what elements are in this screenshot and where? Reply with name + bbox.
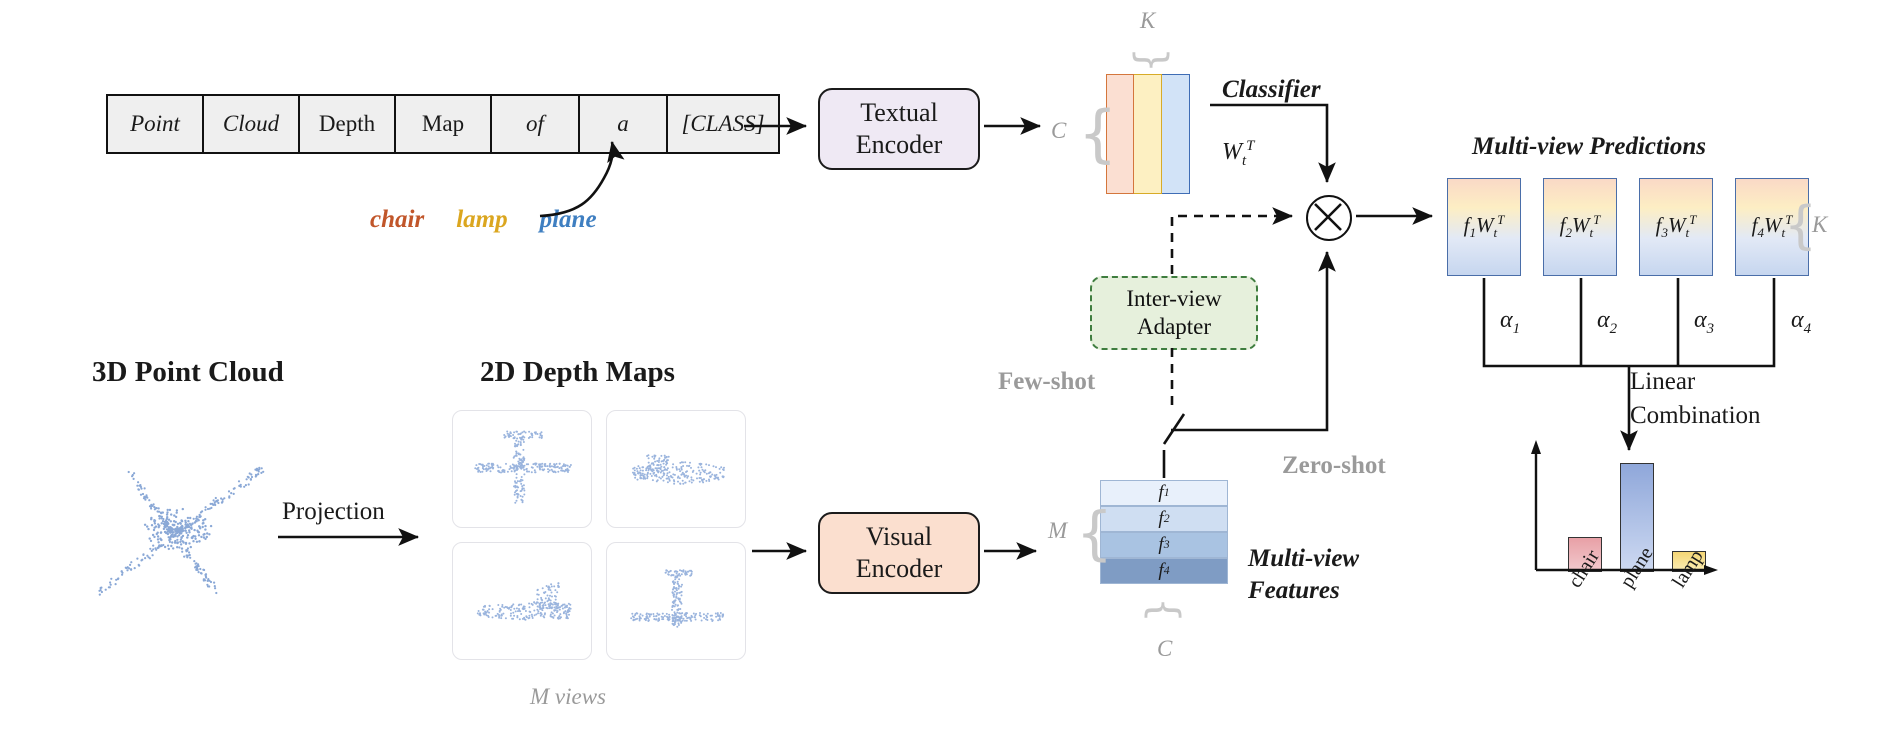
prediction-bar-chart: chair plane lamp xyxy=(1540,452,1710,572)
adapter-line2: Adapter xyxy=(1092,313,1256,341)
features-dim-m: M xyxy=(1048,518,1067,544)
visual-encoder-line1: Visual xyxy=(820,521,978,553)
matrix-multiply-icon xyxy=(1306,195,1352,241)
point-cloud-visual xyxy=(70,430,290,620)
class-word-plane[interactable]: plane xyxy=(540,206,597,234)
brace-m-features: { xyxy=(1076,478,1113,588)
features-caption-line2: Features xyxy=(1248,577,1340,605)
textual-encoder-box[interactable]: Textual Encoder xyxy=(818,88,980,170)
alpha-merge-tree xyxy=(1484,278,1774,366)
prompt-token-point[interactable]: Point xyxy=(108,96,204,152)
prompt-token-of[interactable]: of xyxy=(492,96,580,152)
point-cloud-title: 3D Point Cloud xyxy=(92,356,284,389)
prompt-token-a[interactable]: a xyxy=(580,96,668,152)
depth-map-tile-4[interactable] xyxy=(606,542,746,660)
brace-c-classifier: { xyxy=(1078,76,1117,192)
switch-lever xyxy=(1164,414,1184,444)
features-caption-line1: Multi-view xyxy=(1248,545,1359,573)
class-name-list: chair lamp plane xyxy=(370,206,597,234)
alpha-label-4: α4 xyxy=(1791,307,1811,338)
alpha-label-2: α2 xyxy=(1597,307,1617,338)
few-shot-label: Few-shot xyxy=(998,368,1095,396)
prediction-box-3: f3WtT xyxy=(1639,178,1713,276)
class-word-lamp[interactable]: lamp xyxy=(456,206,507,234)
predictions-dim-k: K xyxy=(1812,212,1827,238)
classifier-weight-label: WtT xyxy=(1222,138,1254,170)
inter-view-adapter-box[interactable]: Inter-view Adapter xyxy=(1090,276,1258,350)
classifier-dim-k: K xyxy=(1140,8,1155,34)
alpha-label-1: α1 xyxy=(1500,307,1520,338)
linear-combination-line1: Linear xyxy=(1630,368,1695,396)
textual-encoder-line2: Encoder xyxy=(820,129,978,161)
prompt-token-depth[interactable]: Depth xyxy=(300,96,396,152)
class-word-chair[interactable]: chair xyxy=(370,206,424,234)
m-views-caption: M views xyxy=(530,684,606,710)
alpha-label-3: α3 xyxy=(1694,307,1714,338)
depth-map-tile-3[interactable] xyxy=(452,542,592,660)
textual-encoder-line1: Textual xyxy=(820,97,978,129)
prompt-token-map[interactable]: Map xyxy=(396,96,492,152)
prompt-token-class[interactable]: [CLASS] xyxy=(668,96,778,152)
projection-label: Projection xyxy=(282,498,385,526)
dashed-adapter-to-operator xyxy=(1172,216,1292,274)
prediction-box-2: f2WtT xyxy=(1543,178,1617,276)
feature-row-2: f2 xyxy=(1100,506,1228,532)
predictions-title: Multi-view Predictions xyxy=(1472,133,1706,161)
visual-encoder-box[interactable]: Visual Encoder xyxy=(818,512,980,594)
adapter-line1: Inter-view xyxy=(1092,285,1256,313)
prompt-token-cloud[interactable]: Cloud xyxy=(204,96,300,152)
feature-row-1: f1 xyxy=(1100,480,1228,506)
feature-row-3: f3 xyxy=(1100,532,1228,558)
visual-encoder-line2: Encoder xyxy=(820,553,978,585)
depth-map-tile-2[interactable] xyxy=(606,410,746,528)
prediction-box-1: f1WtT xyxy=(1447,178,1521,276)
classifier-title: Classifier xyxy=(1222,76,1321,104)
depth-maps-title: 2D Depth Maps xyxy=(480,356,675,389)
prompt-token-row: Point Cloud Depth Map of a [CLASS] xyxy=(106,94,780,154)
features-dim-c: C xyxy=(1157,636,1172,662)
classifier-dim-c: C xyxy=(1051,118,1066,144)
zero-shot-label: Zero-shot xyxy=(1282,452,1386,480)
depth-map-grid xyxy=(452,410,746,660)
point-cloud-icon xyxy=(70,430,290,620)
depth-map-tile-1[interactable] xyxy=(452,410,592,528)
prediction-box-row: f1WtT f2WtT f3WtT f4WtT xyxy=(1447,178,1809,276)
chart-axes xyxy=(1522,414,1702,564)
